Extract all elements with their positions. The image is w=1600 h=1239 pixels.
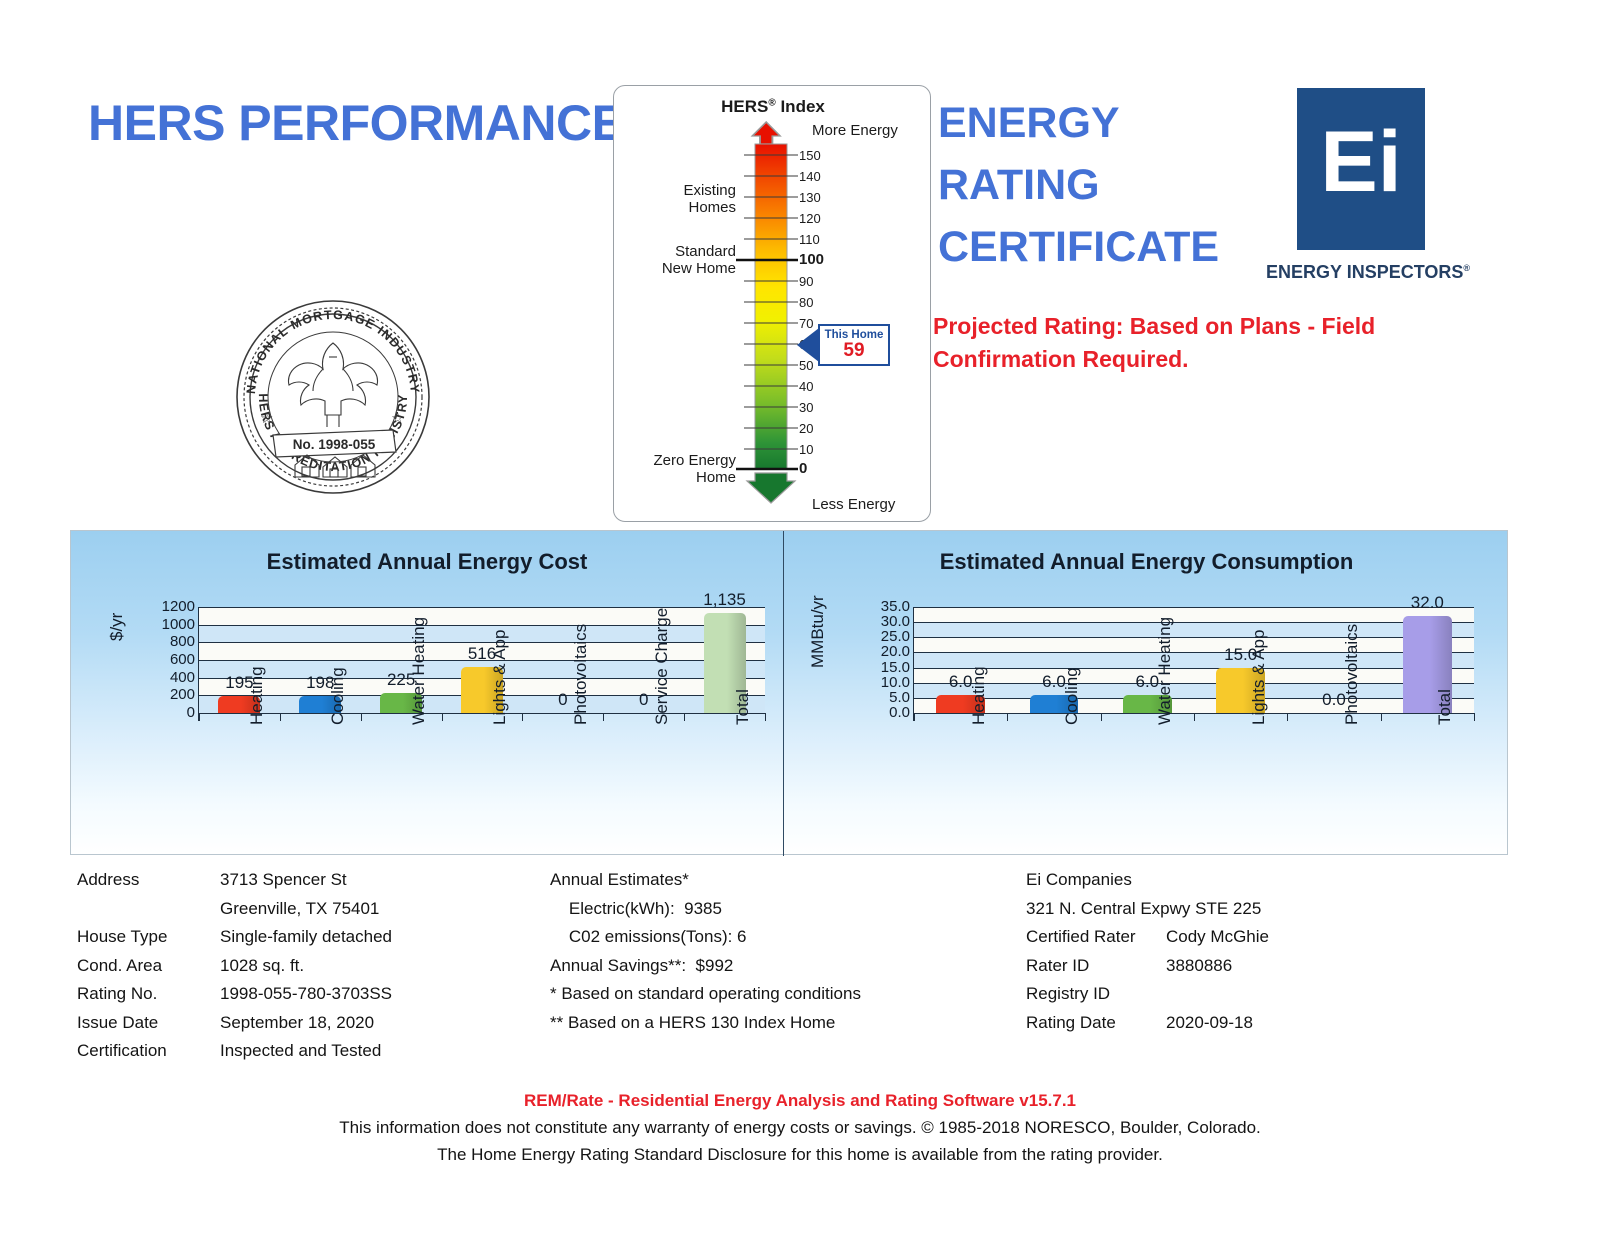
category-label: Heating (969, 666, 989, 725)
info-row: Cond. Area1028 sq. ft. (77, 956, 527, 985)
info-value: 1998-055-780-3703SS (220, 984, 392, 1004)
category-label: Service Charge (652, 608, 672, 725)
x-axis-tick (522, 713, 523, 721)
info-row: Rating No.1998-055-780-3703SS (77, 984, 527, 1013)
scale-tick-30: 30 (799, 400, 813, 415)
info-column-rater: Ei Companies321 N. Central Expwy STE 225… (1026, 870, 1496, 1041)
info-value: 3713 Spencer St (220, 870, 347, 890)
gridline (199, 625, 765, 626)
info-value: 1028 sq. ft. (220, 956, 304, 976)
info-row: Ei Companies (1026, 870, 1496, 899)
bar-value-label: 6.0 (1097, 672, 1197, 692)
info-value: Greenville, TX 75401 (220, 899, 379, 919)
scale-tick-130: 130 (799, 190, 821, 205)
bar-value-label: 0 (594, 690, 694, 710)
category-label: Photovoltaics (571, 624, 591, 725)
info-line: ** Based on a HERS 130 Index Home (550, 1013, 1010, 1042)
category-label: Total (733, 689, 753, 725)
x-axis-tick (603, 713, 604, 721)
existing-homes-label: Existing Homes (614, 182, 736, 216)
scale-tick-100: 100 (799, 251, 824, 268)
info-row: House TypeSingle-family detached (77, 927, 527, 956)
info-row: Certified RaterCody McGhie (1026, 927, 1496, 956)
standard-new-home-label: Standard New Home (614, 243, 736, 277)
disclaimer-line-1: This information does not constitute any… (0, 1114, 1600, 1141)
scale-tick-120: 120 (799, 211, 821, 226)
info-row: Address3713 Spencer St (77, 870, 527, 899)
gridline (199, 642, 765, 643)
svg-text:☆: ☆ (260, 410, 273, 427)
scale-tick-10: 10 (799, 442, 813, 457)
info-line: * Based on standard operating conditions (550, 984, 1010, 1013)
chart-title-cost: Estimated Annual Energy Cost (71, 549, 783, 575)
gridline (199, 713, 765, 714)
bar-value-label: 6.0 (1004, 672, 1104, 692)
y-tick-label: 1000 (127, 616, 195, 633)
info-row: Greenville, TX 75401 (77, 899, 527, 928)
svg-text:☆: ☆ (391, 410, 404, 427)
disclaimer-line-2: The Home Energy Rating Standard Disclosu… (0, 1141, 1600, 1168)
info-label: Address (77, 870, 139, 890)
gridline (914, 637, 1474, 638)
page-title: HERS PERFORMANCE (88, 94, 624, 152)
charts-panel: Estimated Annual Energy Cost $/yr 120010… (70, 530, 1508, 855)
scale-tick-0: 0 (799, 460, 807, 477)
category-label: Water Heating (409, 617, 429, 725)
category-label: Cooling (328, 667, 348, 725)
x-axis-tick (280, 713, 281, 721)
y-tick-label: 200 (127, 686, 195, 703)
y-tick-label: 600 (127, 651, 195, 668)
info-row: Rating Date2020-09-18 (1026, 1013, 1496, 1042)
hers-index-gauge: HERS® Index (613, 85, 931, 522)
info-column-address: Address3713 Spencer StGreenville, TX 754… (77, 870, 527, 1070)
zero-energy-home-label: Zero Energy Home (614, 452, 736, 486)
info-value: Cody McGhie (1166, 927, 1269, 947)
info-value: Single-family detached (220, 927, 392, 947)
less-energy-label: Less Energy (812, 496, 895, 513)
info-value: Inspected and Tested (220, 1041, 381, 1061)
certificate-footer: REM/Rate - Residential Energy Analysis a… (0, 1088, 1600, 1168)
y-tick-label: 0.0 (842, 704, 910, 721)
info-line: Annual Estimates* (550, 870, 1010, 899)
certificate-title: ENERGY RATING CERTIFICATE (938, 92, 1219, 278)
energy-cost-chart: Estimated Annual Energy Cost $/yr 120010… (71, 531, 783, 856)
y-axis-label-cost: $/yr (107, 613, 127, 641)
info-label: Cond. Area (77, 956, 162, 976)
y-axis-label-consumption: MMBtu/yr (808, 595, 828, 668)
bar-value-label: 6.0 (911, 672, 1011, 692)
this-home-pointer-icon (797, 328, 819, 362)
projected-rating-notice: Projected Rating: Based on Plans - Field… (933, 310, 1493, 376)
info-row: Registry ID (1026, 984, 1496, 1013)
this-home-score: 59 (820, 341, 888, 361)
y-tick-label: 0 (127, 704, 195, 721)
x-axis-tick (1381, 713, 1382, 721)
info-value: 2020-09-18 (1166, 1013, 1253, 1033)
info-label: 321 N. Central Expwy STE 225 (1026, 899, 1261, 919)
info-row: Rater ID3880886 (1026, 956, 1496, 985)
category-label: Lights & App (490, 630, 510, 725)
info-label: Rater ID (1026, 956, 1089, 976)
info-label: Registry ID (1026, 984, 1110, 1004)
more-energy-label: More Energy (812, 122, 898, 139)
x-axis-tick (1287, 713, 1288, 721)
x-axis-tick (1194, 713, 1195, 721)
info-line: Electric(kWh): 9385 (550, 899, 1010, 928)
scale-tick-40: 40 (799, 379, 813, 394)
info-column-estimates: Annual Estimates* Electric(kWh): 9385 C0… (550, 870, 1010, 1041)
info-row: CertificationInspected and Tested (77, 1041, 527, 1070)
plot-band (914, 698, 1474, 713)
scale-tick-110: 110 (799, 232, 820, 247)
this-home-rating-callout: This Home 59 (818, 324, 890, 366)
bar-value-label: 1,135 (675, 590, 775, 610)
ei-logo-text: Ei (1297, 102, 1425, 222)
x-axis-tick (1007, 713, 1008, 721)
bar-value-label: 516 (432, 644, 532, 664)
bar-value-label: 225 (351, 670, 451, 690)
ei-company-name: ENERGY INSPECTORS® (1266, 262, 1486, 283)
info-row: Issue DateSeptember 18, 2020 (77, 1013, 527, 1042)
x-axis-tick (442, 713, 443, 721)
gridline (914, 698, 1474, 699)
info-row: 321 N. Central Expwy STE 225 (1026, 899, 1496, 928)
y-tick-label: 800 (127, 633, 195, 650)
y-tick-label: 400 (127, 669, 195, 686)
category-label: Total (1435, 689, 1455, 725)
bar-value-label: 15.0 (1191, 645, 1291, 665)
info-label: Certification (77, 1041, 167, 1061)
info-label: Ei Companies (1026, 870, 1132, 890)
bar-value-label: 0.0 (1284, 690, 1384, 710)
scale-tick-80: 80 (799, 295, 813, 310)
category-label: Cooling (1062, 667, 1082, 725)
scale-tick-140: 140 (799, 169, 821, 184)
info-label: Issue Date (77, 1013, 158, 1033)
info-value: 3880886 (1166, 956, 1232, 976)
certificate-header: HERS PERFORMANCE NATIONAL MORTGAGE INDUS… (0, 0, 1600, 530)
x-axis-tick (1101, 713, 1102, 721)
scale-tick-20: 20 (799, 421, 813, 436)
scale-tick-90: 90 (799, 274, 813, 289)
software-credit: REM/Rate - Residential Energy Analysis a… (0, 1088, 1600, 1114)
x-axis-tick (684, 713, 685, 721)
category-label: Water Heating (1155, 617, 1175, 725)
x-axis-tick (1474, 713, 1475, 721)
x-axis-tick (361, 713, 362, 721)
seal-registry-number: No. 1998-055 (293, 437, 376, 452)
info-label: House Type (77, 927, 167, 947)
gridline (914, 668, 1474, 669)
category-label: Heating (247, 666, 267, 725)
y-tick-label: 1200 (127, 598, 195, 615)
property-info-section: Address3713 Spencer StGreenville, TX 754… (0, 862, 1600, 1077)
plot-band (199, 625, 765, 643)
bar-value-label: 32.0 (1377, 593, 1477, 613)
category-label: Lights & App (1249, 630, 1269, 725)
gridline (914, 622, 1474, 623)
info-line: Annual Savings**: $992 (550, 956, 1010, 985)
plot-band (914, 622, 1474, 637)
chart-title-consumption: Estimated Annual Energy Consumption (784, 549, 1509, 575)
energy-consumption-chart: Estimated Annual Energy Consumption MMBt… (784, 531, 1509, 856)
info-label: Rating No. (77, 984, 157, 1004)
info-value: September 18, 2020 (220, 1013, 374, 1033)
scale-tick-150: 150 (799, 148, 821, 163)
info-label: Certified Rater (1026, 927, 1136, 947)
info-label: Rating Date (1026, 1013, 1116, 1033)
ei-logo-icon: Ei (1297, 88, 1425, 250)
x-axis-tick (765, 713, 766, 721)
info-line: C02 emissions(Tons): 6 (550, 927, 1010, 956)
category-label: Photovoltaics (1342, 624, 1362, 725)
nmi-accreditation-seal-icon: NATIONAL MORTGAGE INDUSTRY HERS ACCREDIT… (233, 297, 433, 497)
